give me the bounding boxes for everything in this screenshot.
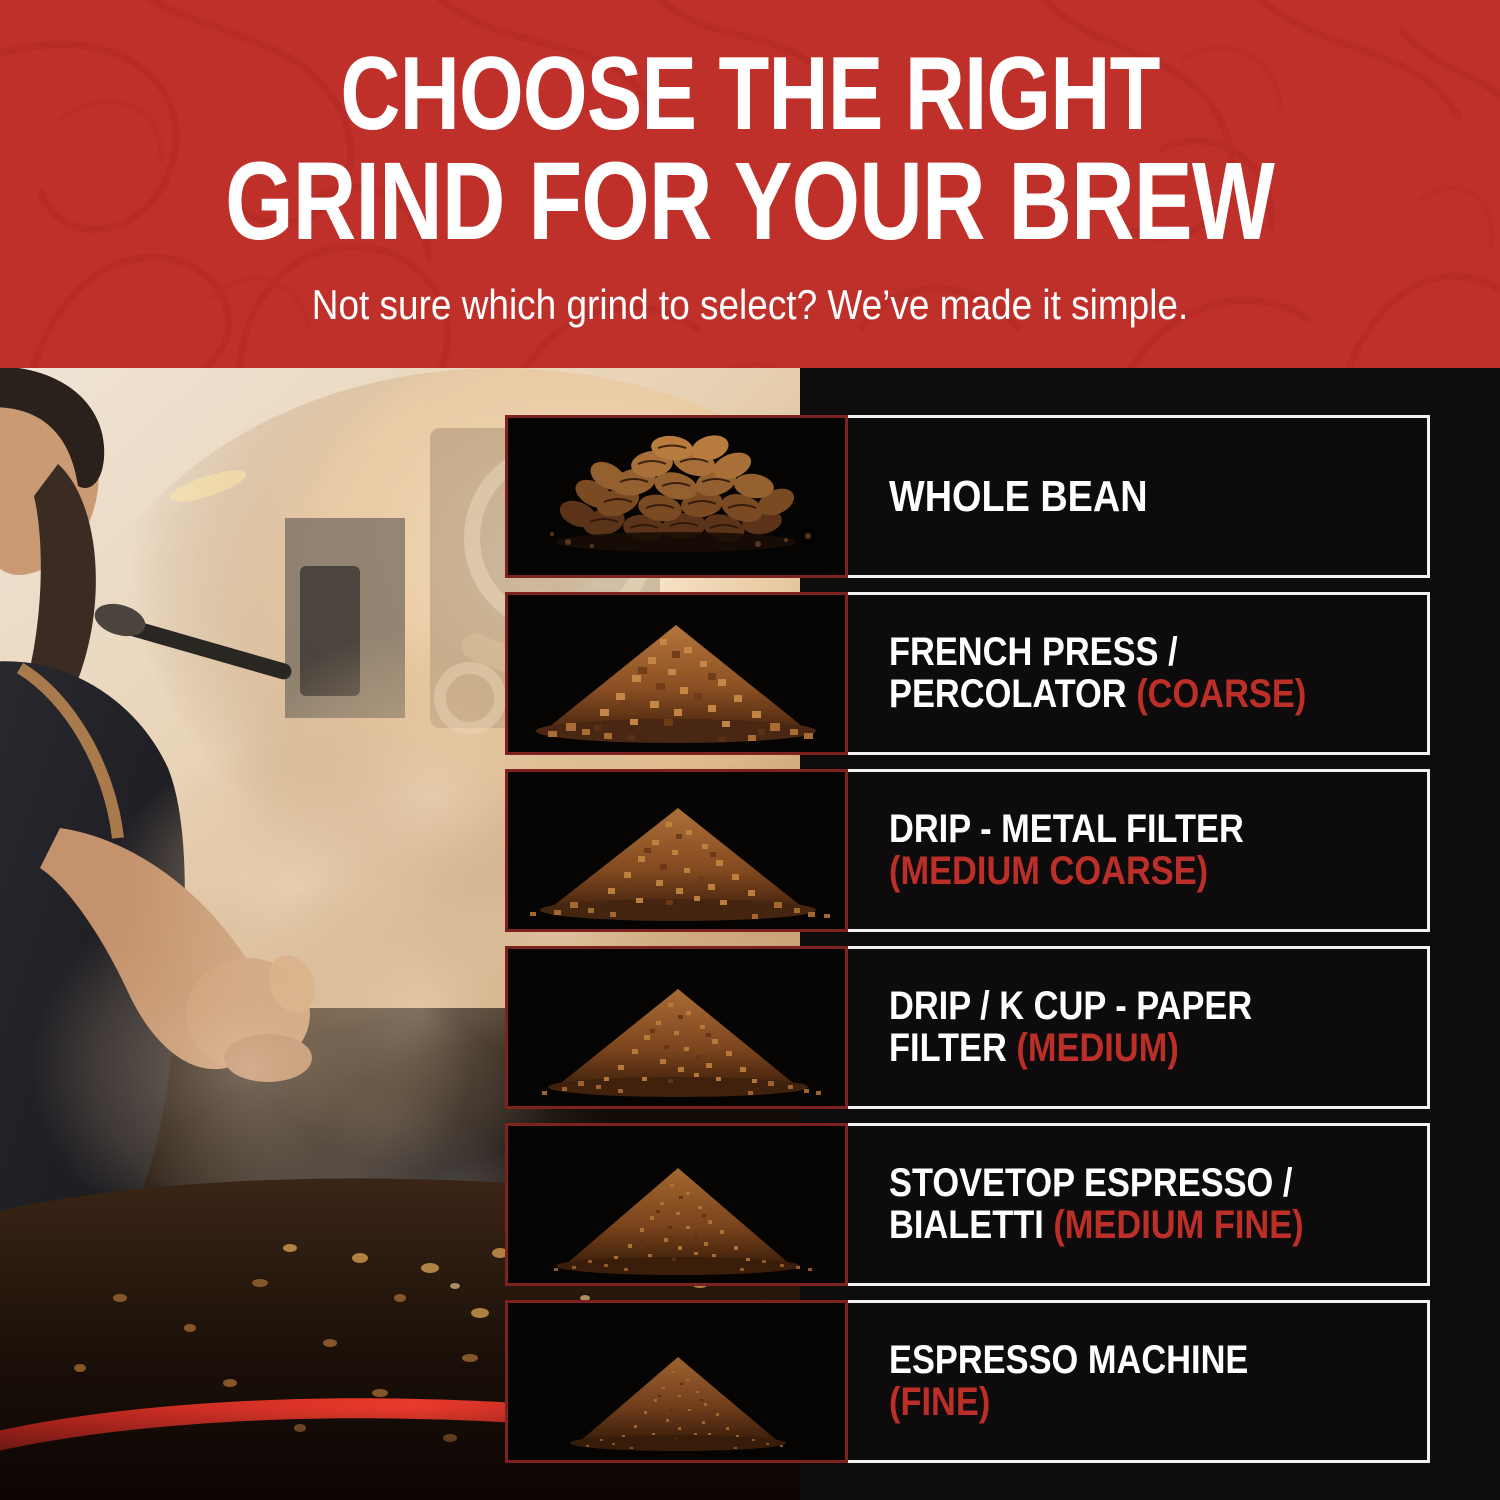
medium-coarse-grind-illustration bbox=[508, 772, 845, 929]
table-row[interactable]: WHOLE BEAN bbox=[505, 415, 1430, 578]
table-row[interactable]: DRIP - METAL FILTER (MEDIUM COARSE) bbox=[505, 769, 1430, 932]
medium-fine-grind-pile-image bbox=[505, 1123, 848, 1286]
table-row[interactable]: ESPRESSO MACHINE (FINE) bbox=[505, 1300, 1430, 1463]
grind-grade-text: (MEDIUM FINE) bbox=[1053, 1203, 1303, 1247]
brew-method-label: DRIP / K CUP - PAPER FILTER (MEDIUM) bbox=[889, 986, 1340, 1069]
table-row[interactable]: FRENCH PRESS / PERCOLATOR (COARSE) bbox=[505, 592, 1430, 755]
brew-method-text: FRENCH PRESS / PERCOLATOR bbox=[889, 630, 1178, 716]
medium-fine-grind-illustration bbox=[508, 1126, 845, 1283]
grind-grade-text: (COARSE) bbox=[1136, 672, 1306, 716]
coarse-grind-pile-image bbox=[505, 592, 848, 755]
row-label-cell: ESPRESSO MACHINE (FINE) bbox=[848, 1300, 1430, 1463]
whole-coffee-beans-pile-image bbox=[505, 415, 848, 578]
fine-grind-pile-image bbox=[505, 1300, 848, 1463]
row-label-cell: STOVETOP ESPRESSO / BIALETTI (MEDIUM FIN… bbox=[848, 1123, 1430, 1286]
row-label-cell: FRENCH PRESS / PERCOLATOR (COARSE) bbox=[848, 592, 1430, 755]
grind-grade-text: (FINE) bbox=[889, 1380, 990, 1424]
brew-method-text: WHOLE BEAN bbox=[889, 472, 1148, 521]
header-banner: CHOOSE THE RIGHT GRIND FOR YOUR BREW Not… bbox=[0, 0, 1500, 368]
medium-grind-illustration bbox=[508, 949, 845, 1106]
table-row[interactable]: DRIP / K CUP - PAPER FILTER (MEDIUM) bbox=[505, 946, 1430, 1109]
medium-grind-pile-image bbox=[505, 946, 848, 1109]
page-title-line-2: GRIND FOR YOUR BREW bbox=[226, 149, 1275, 255]
fine-grind-illustration bbox=[508, 1303, 845, 1460]
row-label-cell: DRIP / K CUP - PAPER FILTER (MEDIUM) bbox=[848, 946, 1430, 1109]
brew-method-label: STOVETOP ESPRESSO / BIALETTI (MEDIUM FIN… bbox=[889, 1163, 1340, 1246]
row-label-cell: WHOLE BEAN bbox=[848, 415, 1430, 578]
brew-method-label: ESPRESSO MACHINE (FINE) bbox=[889, 1340, 1340, 1423]
brew-method-label: FRENCH PRESS / PERCOLATOR (COARSE) bbox=[889, 632, 1340, 715]
table-row[interactable]: STOVETOP ESPRESSO / BIALETTI (MEDIUM FIN… bbox=[505, 1123, 1430, 1286]
brew-method-text: ESPRESSO MACHINE bbox=[889, 1338, 1248, 1382]
brew-method-label: DRIP - METAL FILTER (MEDIUM COARSE) bbox=[889, 809, 1340, 892]
medium-coarse-grind-pile-image bbox=[505, 769, 848, 932]
grind-guide-table: WHOLE BEAN bbox=[505, 415, 1430, 1455]
row-label-cell: DRIP - METAL FILTER (MEDIUM COARSE) bbox=[848, 769, 1430, 932]
brew-method-text: DRIP - METAL FILTER bbox=[889, 807, 1244, 851]
page-subtitle: Not sure which grind to select? We’ve ma… bbox=[312, 281, 1188, 329]
whole-bean-illustration bbox=[508, 418, 845, 575]
grind-grade-text: (MEDIUM COARSE) bbox=[889, 849, 1208, 893]
page-title-line-1: CHOOSE THE RIGHT bbox=[340, 45, 1159, 145]
coarse-grind-illustration bbox=[508, 595, 845, 752]
brew-method-label: WHOLE BEAN bbox=[889, 474, 1340, 520]
grind-grade-text: (MEDIUM) bbox=[1016, 1026, 1178, 1070]
